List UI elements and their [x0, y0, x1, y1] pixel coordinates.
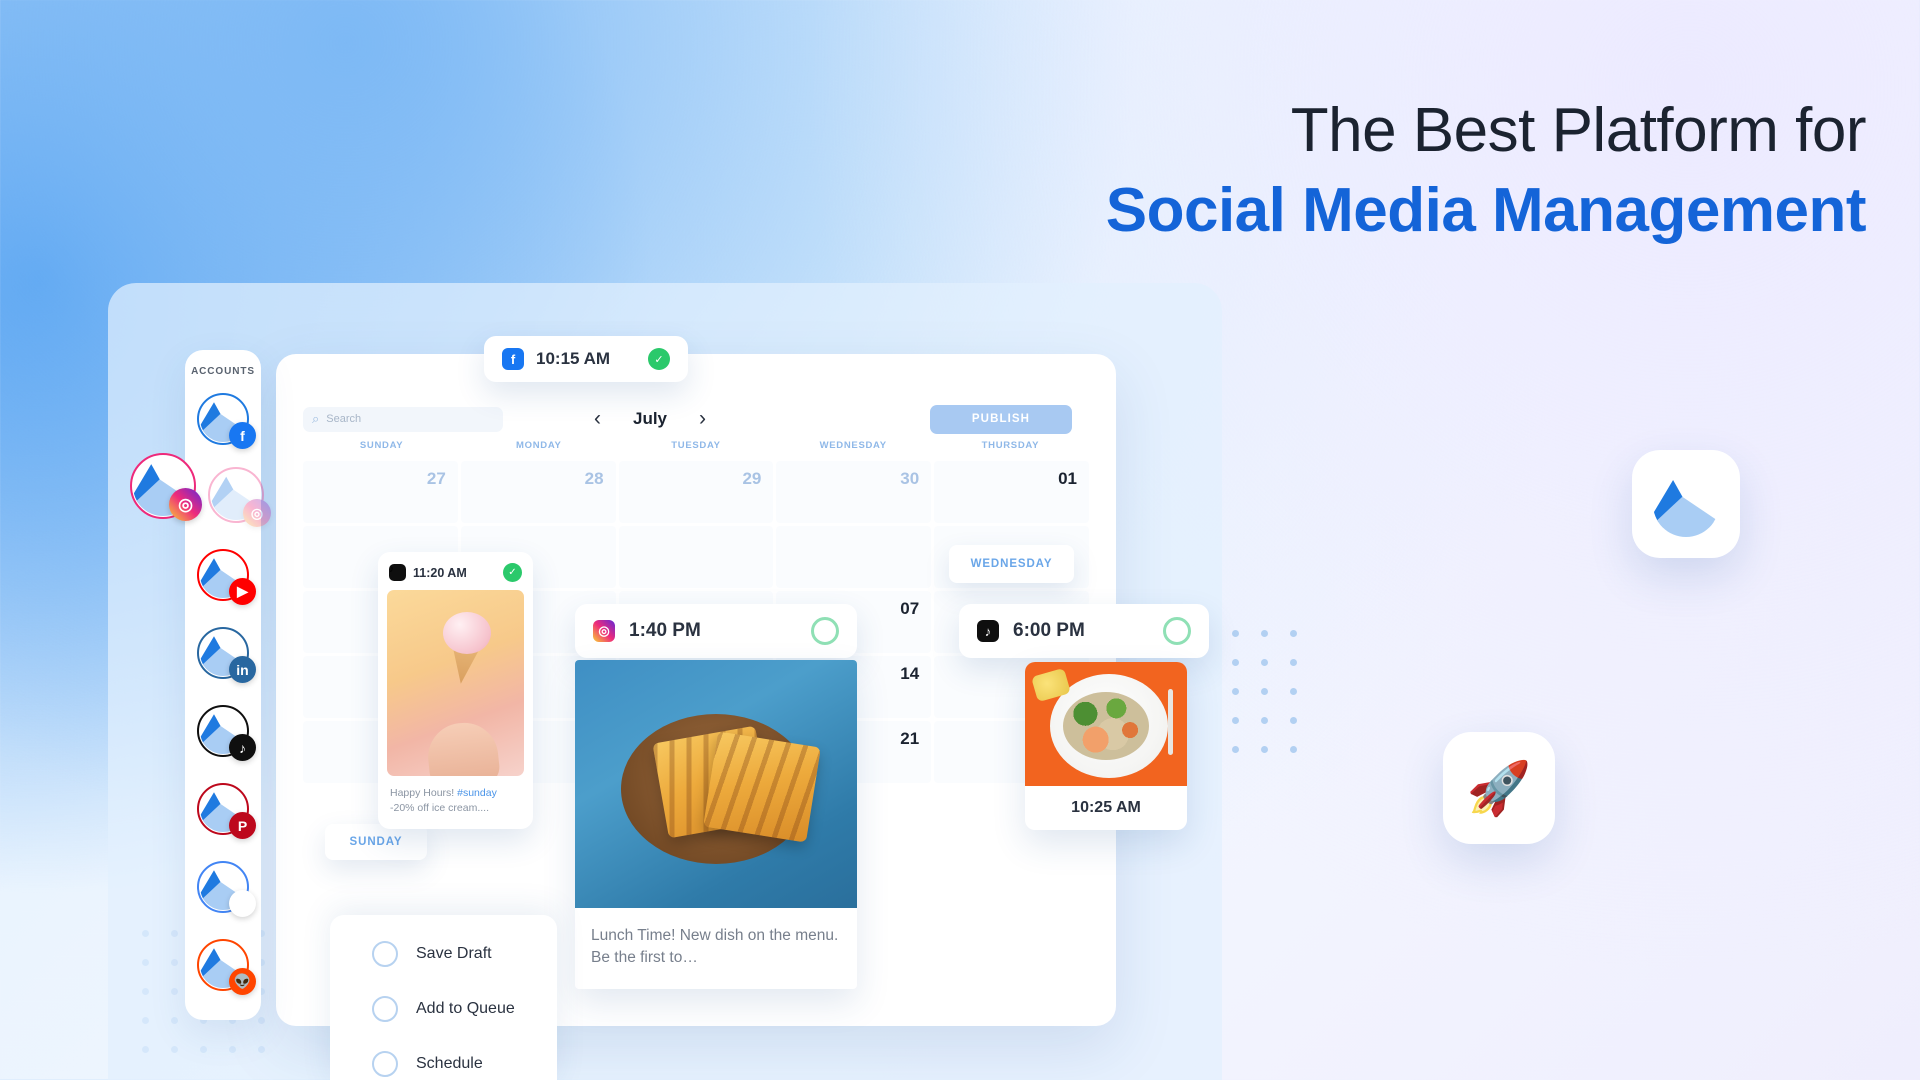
linkedin-icon: in	[229, 656, 256, 683]
instagram-icon: ◎	[243, 499, 271, 527]
day-header-tuesday: TUESDAY	[617, 440, 774, 461]
accounts-title: ACCOUNTS	[191, 366, 255, 377]
tiktok-icon: ♪	[389, 564, 406, 581]
day-header-wednesday: WEDNESDAY	[775, 440, 932, 461]
pinterest-icon: P	[229, 812, 256, 839]
caption-text: Happy Hours!	[390, 787, 457, 799]
day-pill-sunday: SUNDAY	[325, 824, 427, 860]
published-check-icon: ✓	[648, 348, 670, 370]
hero-line-2: Social Media Management	[1106, 173, 1866, 249]
calendar-cell[interactable]: 30	[776, 461, 931, 523]
account-item-facebook[interactable]: f	[197, 393, 249, 445]
tiktok-icon: ♪	[977, 620, 999, 642]
post-chip-tiktok-dinner[interactable]: ♪ 6:00 PM	[959, 604, 1209, 658]
calendar-cell[interactable]	[776, 526, 931, 588]
action-label: Schedule	[416, 1055, 483, 1073]
account-item-tiktok[interactable]: ♪	[197, 705, 249, 757]
action-option-schedule[interactable]: Schedule	[372, 1051, 557, 1077]
post-caption: Lunch Time! New dish on the menu. Be the…	[575, 908, 857, 989]
search-input[interactable]: ⌕ Search	[303, 407, 503, 432]
reddit-icon: 👽	[229, 968, 256, 995]
post-caption: Happy Hours! #sunday -20% off ice cream.…	[387, 776, 524, 820]
calendar-cell[interactable]: 27	[303, 461, 458, 523]
calendar-cell[interactable]: 29	[619, 461, 774, 523]
youtube-icon: ▶	[229, 578, 256, 605]
caption-rest: -20% off ice cream....	[390, 802, 489, 814]
post-time: 11:20 AM	[413, 566, 467, 580]
radio-icon[interactable]	[372, 996, 398, 1022]
post-card-tiktok-salad[interactable]: 10:25 AM	[1025, 662, 1187, 830]
post-image-salad	[1025, 662, 1187, 786]
account-item-instagram-selected[interactable]: ◎	[130, 453, 196, 519]
publish-button[interactable]: PUBLISH	[930, 405, 1072, 434]
published-check-icon: ✓	[503, 563, 522, 582]
action-option-save-draft[interactable]: Save Draft	[372, 941, 557, 967]
action-option-add-to-queue[interactable]: Add to Queue	[372, 996, 557, 1022]
calendar-cell[interactable]: 28	[461, 461, 616, 523]
next-month-chevron-icon[interactable]: ›	[699, 407, 706, 431]
rocket-icon: 🚀	[1443, 732, 1555, 844]
scheduled-status-icon	[811, 617, 839, 645]
post-image-sandwich	[575, 660, 857, 908]
instagram-icon: ◎	[169, 488, 202, 521]
post-card-header: ♪ 11:20 AM ✓	[387, 561, 524, 590]
post-time: 10:15 AM	[536, 349, 610, 369]
post-card-tiktok-icecream[interactable]: ♪ 11:20 AM ✓ Happy Hours! #sunday -20% o…	[378, 552, 533, 829]
calendar-cell[interactable]	[619, 526, 774, 588]
dot-grid-right	[1232, 630, 1297, 753]
post-chip-facebook[interactable]: f 10:15 AM ✓	[484, 336, 688, 382]
search-placeholder: Search	[326, 413, 361, 425]
calendar-cell[interactable]: 01	[934, 461, 1089, 523]
post-time: 1:40 PM	[629, 620, 701, 642]
caption-hashtag[interactable]: #sunday	[457, 787, 497, 799]
post-chip-instagram[interactable]: ◎ 1:40 PM	[575, 604, 857, 658]
account-item-instagram-ghost: ◎	[208, 467, 264, 523]
radio-icon[interactable]	[372, 1051, 398, 1077]
post-image-icecream	[387, 590, 524, 776]
day-header-monday: MONDAY	[460, 440, 617, 461]
day-header-thursday: THURSDAY	[932, 440, 1089, 461]
current-month-label: July	[633, 409, 667, 429]
prev-month-chevron-icon[interactable]: ‹	[594, 407, 601, 431]
post-card-instagram-lunch[interactable]: Lunch Time! New dish on the menu. Be the…	[575, 660, 857, 989]
accounts-sidebar[interactable]: ACCOUNTS f ▶ in ♪ P G 👽	[185, 350, 261, 1020]
action-label: Save Draft	[416, 945, 492, 963]
post-action-sheet: Save Draft Add to Queue Schedule	[330, 915, 557, 1080]
account-item-google[interactable]: G	[197, 861, 249, 913]
post-time: 6:00 PM	[1013, 620, 1085, 642]
account-item-reddit[interactable]: 👽	[197, 939, 249, 991]
post-time: 10:25 AM	[1025, 786, 1187, 826]
brand-logo-icon	[1632, 450, 1740, 558]
search-icon: ⌕	[312, 411, 319, 427]
hero-headline: The Best Platform for Social Media Manag…	[1106, 96, 1866, 249]
action-label: Add to Queue	[416, 1000, 515, 1018]
calendar-day-headers: SUNDAY MONDAY TUESDAY WEDNESDAY THURSDAY	[276, 440, 1116, 461]
radio-icon[interactable]	[372, 941, 398, 967]
day-header-sunday: SUNDAY	[303, 440, 460, 461]
month-navigation: ‹ July ›	[594, 407, 706, 431]
facebook-icon: f	[502, 348, 524, 370]
account-item-pinterest[interactable]: P	[197, 783, 249, 835]
account-item-linkedin[interactable]: in	[197, 627, 249, 679]
facebook-icon: f	[229, 422, 256, 449]
day-pill-wednesday: WEDNESDAY	[949, 545, 1074, 583]
instagram-icon: ◎	[593, 620, 615, 642]
account-item-youtube[interactable]: ▶	[197, 549, 249, 601]
tiktok-icon: ♪	[229, 734, 256, 761]
google-icon: G	[229, 890, 256, 917]
scheduled-status-icon	[1163, 617, 1191, 645]
hero-line-1: The Best Platform for	[1106, 96, 1866, 165]
